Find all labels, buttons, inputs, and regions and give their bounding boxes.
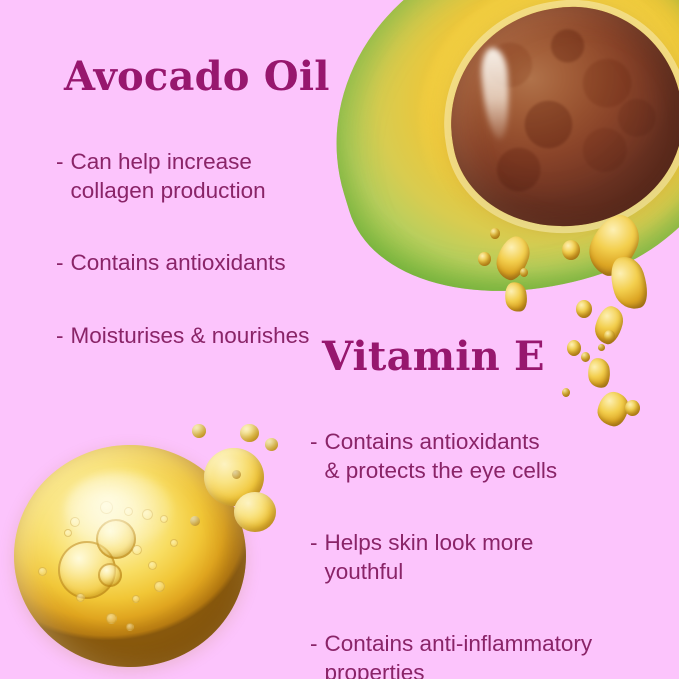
oil-drip (581, 352, 590, 362)
oil-satellite-bubble (234, 492, 276, 532)
list-item-label: Contains antioxidants (71, 249, 387, 277)
oil-micro-bubble (170, 539, 178, 547)
oil-micro-bubble (38, 567, 47, 576)
oil-drip (502, 280, 530, 314)
oil-satellite-bubble (240, 424, 259, 442)
oil-micro-bubble (100, 501, 113, 514)
oil-micro-bubble (142, 509, 153, 520)
oil-bubble (98, 563, 122, 587)
bullet-dash-icon: - (310, 428, 318, 456)
oil-micro-bubble (154, 581, 165, 592)
oil-micro-bubble (124, 507, 133, 516)
oil-drip (586, 357, 612, 390)
oil-drip (576, 300, 592, 318)
oil-drip (562, 240, 580, 260)
oil-drip (490, 228, 500, 239)
oil-micro-bubble (76, 593, 85, 602)
bullet-dash-icon: - (56, 148, 64, 176)
bullet-dash-icon: - (56, 322, 64, 350)
avocado-pit-texture (433, 0, 679, 244)
bullet-dash-icon: - (310, 529, 318, 557)
oil-bubble (96, 519, 136, 559)
bullet-dash-icon: - (56, 249, 64, 277)
oil-micro-bubble (70, 517, 80, 527)
list-item: - Can help increase collagen production (56, 148, 386, 205)
oil-drip (478, 252, 491, 266)
avocado-pit-highlight (480, 47, 512, 141)
oil-drip (598, 344, 605, 351)
oil-satellite-bubble (192, 424, 206, 438)
oil-drip (562, 388, 570, 397)
oil-satellite-bubble (265, 438, 278, 451)
avocado-pit (433, 0, 679, 244)
list-item-label: Contains antioxidants & protects the eye… (325, 428, 679, 485)
list-item: - Contains antioxidants & protects the e… (310, 428, 679, 485)
oil-micro-bubble (64, 529, 72, 537)
ingredient-benefits-poster: Avocado Oil - Can help increase collagen… (0, 0, 679, 679)
list-item: - Contains anti-inflammatory properties (310, 630, 679, 679)
oil-satellite-bubble (232, 470, 241, 479)
oil-drip (492, 232, 534, 283)
section-heading-vitamin-e: Vitamin E (322, 337, 545, 377)
oil-satellite-bubble (190, 516, 200, 526)
oil-drip (567, 340, 581, 356)
list-item-label: Contains anti-inflammatory properties (325, 630, 679, 679)
list-item: - Contains antioxidants (56, 249, 386, 277)
oil-drip (520, 268, 528, 277)
list-item-label: Helps skin look more youthful (325, 529, 679, 586)
oil-micro-bubble (132, 595, 140, 603)
oil-micro-bubble (126, 623, 134, 631)
benefit-list-vitamin-e: - Contains antioxidants & protects the e… (310, 400, 679, 679)
oil-micro-bubble (160, 515, 168, 523)
oil-micro-bubble (132, 545, 142, 555)
bullet-dash-icon: - (310, 630, 318, 658)
list-item-label: Can help increase collagen production (71, 148, 387, 205)
oil-micro-bubble (148, 561, 157, 570)
list-item: - Helps skin look more youthful (310, 529, 679, 586)
oil-micro-bubble (106, 613, 117, 624)
oil-drip (604, 330, 615, 342)
section-heading-avocado-oil: Avocado Oil (64, 57, 330, 97)
